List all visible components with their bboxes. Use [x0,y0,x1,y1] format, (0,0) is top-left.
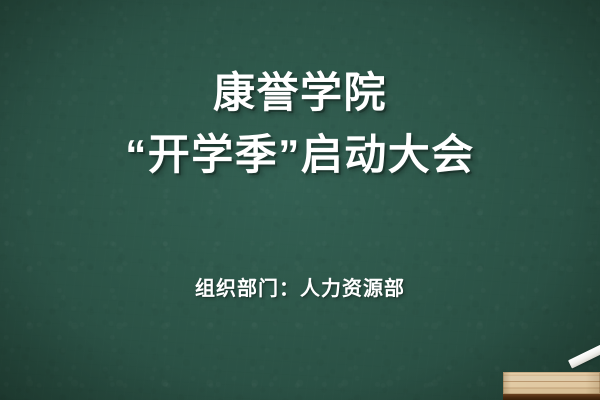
slide-canvas: 康誉学院 “开学季”启动大会 组织部门：人力资源部 [0,0,600,400]
slide-title: 康誉学院 “开学季”启动大会 [0,62,600,186]
slide-subtitle: 组织部门：人力资源部 [0,276,600,302]
chalk-tray [503,372,600,400]
chalk-tray-base [503,394,600,400]
slide-title-line-2: “开学季”启动大会 [0,124,600,186]
slide-title-line-1: 康誉学院 [0,62,600,124]
slide-content: 康誉学院 “开学季”启动大会 组织部门：人力资源部 [0,0,600,400]
chalk-tray-board [503,372,600,394]
